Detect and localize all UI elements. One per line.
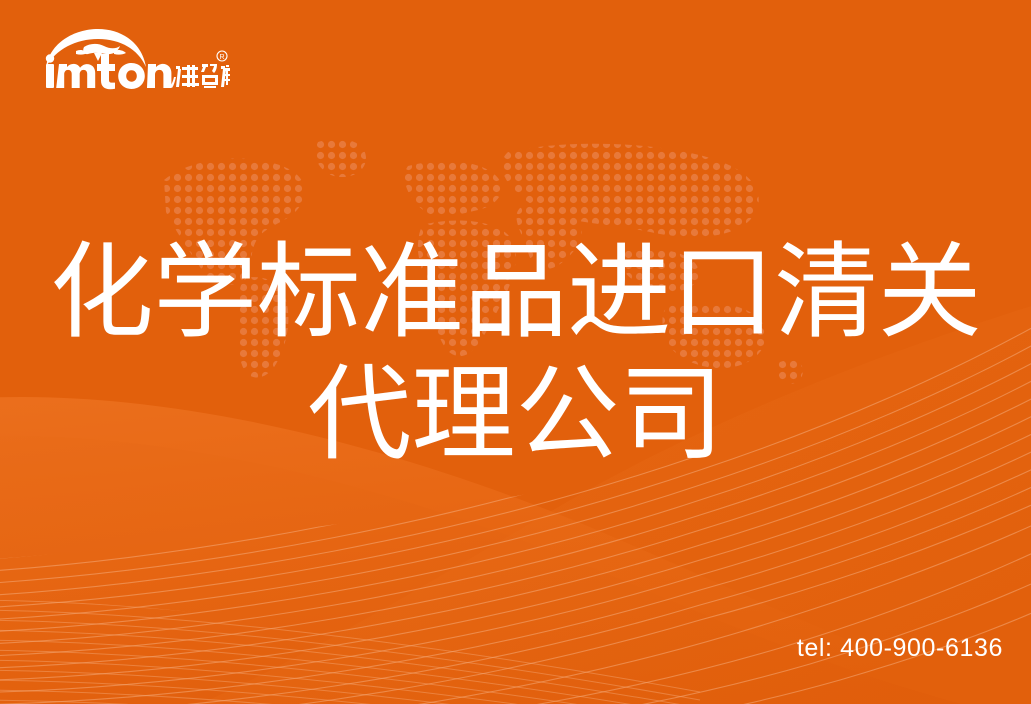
svg-text:R: R <box>219 54 224 61</box>
page-title-line-2: 代理公司 <box>0 353 1031 475</box>
logo-wordmark <box>46 54 172 89</box>
logo-chinese-name <box>170 64 230 88</box>
promo-banner: R 化学标准品进口清关 代理公司 tel: 400-900-6136 <box>0 0 1031 704</box>
page-title-line-1: 化学标准品进口清关 <box>0 231 1031 353</box>
registered-trademark-icon: R <box>217 51 227 61</box>
page-title: 化学标准品进口清关 代理公司 <box>0 231 1031 475</box>
contact-telephone[interactable]: tel: 400-900-6136 <box>797 633 1003 663</box>
company-logo[interactable]: R <box>40 27 230 102</box>
